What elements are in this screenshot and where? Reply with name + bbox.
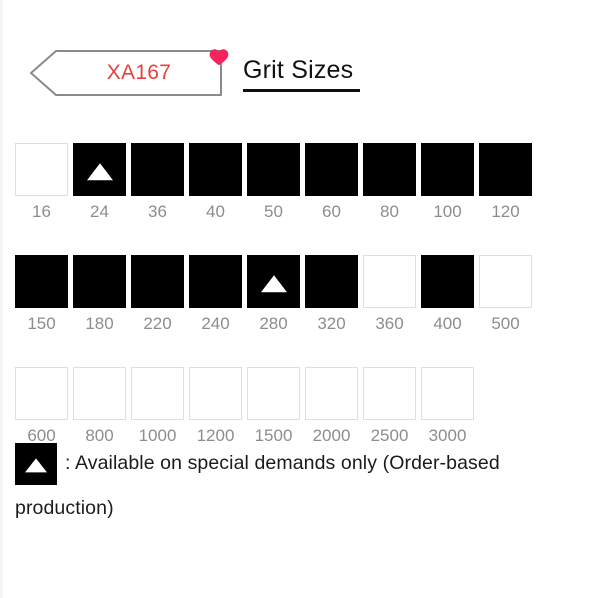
grit-swatch-280[interactable]: [247, 255, 300, 308]
grit-swatch-24[interactable]: [73, 143, 126, 196]
grit-label: 60: [322, 202, 341, 222]
legend-swatch: [15, 443, 57, 485]
grit-swatch-220[interactable]: [131, 255, 184, 308]
grit-swatch-36[interactable]: [131, 143, 184, 196]
grit-label: 16: [32, 202, 51, 222]
legend-text: : Available on special demands only (Ord…: [15, 441, 590, 531]
grit-row: 600800100012001500200025003000: [15, 367, 585, 446]
grit-swatch-320[interactable]: [305, 255, 358, 308]
grit-swatch-500[interactable]: [479, 255, 532, 308]
grit-cell-2000[interactable]: 2000: [305, 367, 358, 446]
grit-label: 240: [201, 314, 229, 334]
grit-label: 100: [433, 202, 461, 222]
grit-label: 50: [264, 202, 283, 222]
page-title-block: Grit Sizes: [243, 54, 360, 92]
grit-cell-80[interactable]: 80: [363, 143, 416, 222]
grit-label: 24: [90, 202, 109, 222]
grit-cell-60[interactable]: 60: [305, 143, 358, 222]
grit-label: 80: [380, 202, 399, 222]
grit-cell-3000[interactable]: 3000: [421, 367, 474, 446]
grit-cell-36[interactable]: 36: [131, 143, 184, 222]
grit-label: 400: [433, 314, 461, 334]
grit-label: 180: [85, 314, 113, 334]
grit-cell-50[interactable]: 50: [247, 143, 300, 222]
grit-swatch-1500[interactable]: [247, 367, 300, 420]
triangle-up-icon: [25, 458, 47, 472]
grit-label: 36: [148, 202, 167, 222]
grit-swatch-40[interactable]: [189, 143, 242, 196]
grit-cell-40[interactable]: 40: [189, 143, 242, 222]
grit-label: 280: [259, 314, 287, 334]
grit-cell-16[interactable]: 16: [15, 143, 68, 222]
triangle-up-icon: [87, 163, 113, 180]
grit-swatch-100[interactable]: [421, 143, 474, 196]
grit-label: 40: [206, 202, 225, 222]
grit-swatch-1000[interactable]: [131, 367, 184, 420]
product-code-ribbon[interactable]: XA167: [30, 50, 222, 96]
grit-label: 320: [317, 314, 345, 334]
grit-swatch-50[interactable]: [247, 143, 300, 196]
product-code-label: XA167: [30, 50, 222, 96]
grit-row: 16243640506080100120: [15, 143, 585, 222]
grit-sizes-page: XA167 Grit Sizes 16243640506080100120150…: [0, 0, 600, 598]
grit-swatch-16[interactable]: [15, 143, 68, 196]
heart-icon: [208, 46, 230, 68]
grit-swatch-120[interactable]: [479, 143, 532, 196]
grit-swatch-600[interactable]: [15, 367, 68, 420]
grit-swatch-80[interactable]: [363, 143, 416, 196]
page-title: Grit Sizes: [243, 54, 360, 86]
grit-label: 150: [27, 314, 55, 334]
grit-label: 500: [491, 314, 519, 334]
grit-swatch-2000[interactable]: [305, 367, 358, 420]
grit-row: 150180220240280320360400500: [15, 255, 585, 334]
grit-swatch-360[interactable]: [363, 255, 416, 308]
grit-cell-1000[interactable]: 1000: [131, 367, 184, 446]
grit-cell-150[interactable]: 150: [15, 255, 68, 334]
grit-label: 360: [375, 314, 403, 334]
legend: : Available on special demands only (Ord…: [15, 441, 590, 531]
grit-cell-500[interactable]: 500: [479, 255, 532, 334]
grit-cell-2500[interactable]: 2500: [363, 367, 416, 446]
grit-cell-24[interactable]: 24: [73, 143, 126, 222]
page-header: XA167 Grit Sizes: [0, 38, 600, 110]
title-underline: [243, 89, 360, 92]
grit-swatch-150[interactable]: [15, 255, 68, 308]
grit-cell-280[interactable]: 280: [247, 255, 300, 334]
grit-cell-400[interactable]: 400: [421, 255, 474, 334]
grit-swatch-400[interactable]: [421, 255, 474, 308]
grit-label: 220: [143, 314, 171, 334]
grit-cell-220[interactable]: 220: [131, 255, 184, 334]
triangle-up-icon: [261, 275, 287, 292]
grit-cell-1500[interactable]: 1500: [247, 367, 300, 446]
grit-cell-600[interactable]: 600: [15, 367, 68, 446]
grit-cell-100[interactable]: 100: [421, 143, 474, 222]
grit-cell-180[interactable]: 180: [73, 255, 126, 334]
grit-cell-120[interactable]: 120: [479, 143, 532, 222]
grit-swatch-180[interactable]: [73, 255, 126, 308]
grit-cell-1200[interactable]: 1200: [189, 367, 242, 446]
grit-label: 120: [491, 202, 519, 222]
grit-cell-320[interactable]: 320: [305, 255, 358, 334]
grit-cell-240[interactable]: 240: [189, 255, 242, 334]
grit-swatch-60[interactable]: [305, 143, 358, 196]
grit-swatch-3000[interactable]: [421, 367, 474, 420]
grit-cell-800[interactable]: 800: [73, 367, 126, 446]
grit-cell-360[interactable]: 360: [363, 255, 416, 334]
grit-swatch-800[interactable]: [73, 367, 126, 420]
grit-swatch-2500[interactable]: [363, 367, 416, 420]
grit-size-grid: 1624364050608010012015018022024028032036…: [15, 143, 585, 479]
grit-swatch-1200[interactable]: [189, 367, 242, 420]
grit-swatch-240[interactable]: [189, 255, 242, 308]
